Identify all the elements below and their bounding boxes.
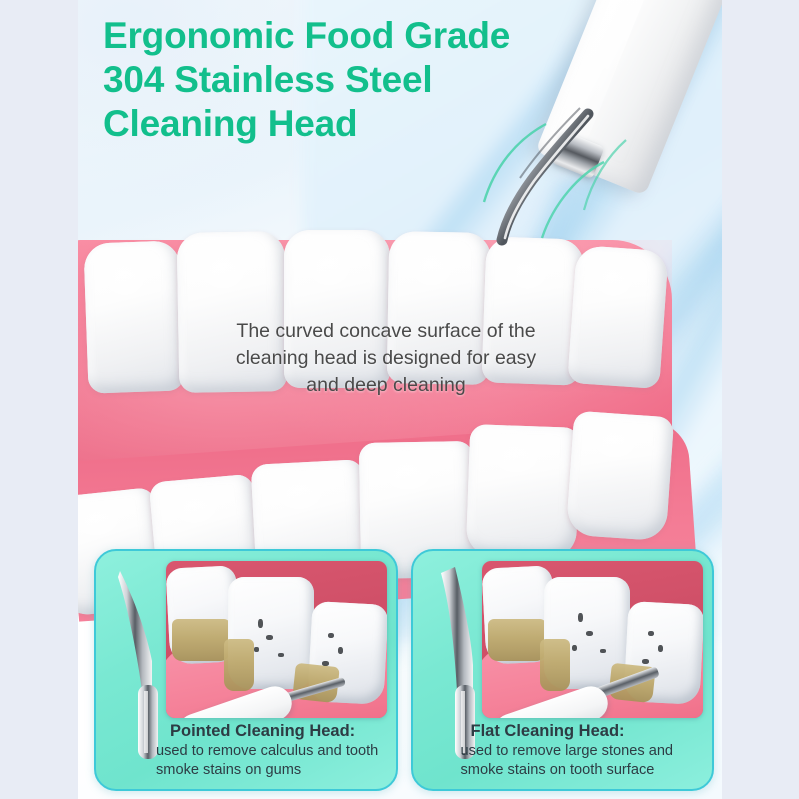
photo-stain-speck bbox=[600, 649, 606, 653]
photo-stain-speck bbox=[648, 631, 654, 636]
pointed-tip-shape bbox=[118, 571, 152, 691]
caption-line-1: The curved concave surface of the bbox=[196, 318, 576, 345]
panel-pointed-cleaning-head[interactable]: Pointed Cleaning Head: used to remove ca… bbox=[94, 549, 398, 791]
vibration-arc bbox=[542, 162, 604, 238]
photo-stain-speck bbox=[322, 661, 329, 666]
photo-stain-speck bbox=[328, 633, 334, 638]
panel-desc-line-2: smoke stains on tooth surface bbox=[461, 761, 715, 780]
photo-stain-speck bbox=[338, 647, 343, 654]
feature-caption: The curved concave surface of the cleani… bbox=[196, 318, 576, 399]
vibration-arc bbox=[584, 140, 626, 210]
page-title: Ergonomic Food Grade 304 Stainless Steel… bbox=[103, 14, 603, 146]
panel-desc-line-1: used to remove calculus and tooth bbox=[156, 742, 398, 761]
photo-stain-speck bbox=[578, 613, 583, 622]
content-stage: Ergonomic Food Grade 304 Stainless Steel… bbox=[78, 0, 722, 799]
headline-line-2: 304 Stainless Steel bbox=[103, 58, 603, 102]
panel-title: Pointed Cleaning Head: bbox=[170, 721, 396, 741]
pointed-head-photo bbox=[166, 561, 387, 718]
lower-tooth bbox=[566, 411, 674, 542]
lower-tooth bbox=[466, 424, 581, 560]
photo-tartar bbox=[224, 639, 254, 691]
photo-stain-speck bbox=[266, 635, 273, 640]
photo-stain-speck bbox=[254, 647, 259, 652]
headline-line-3: Cleaning Head bbox=[103, 102, 603, 146]
right-margin-band bbox=[722, 0, 799, 799]
upper-tooth bbox=[567, 245, 668, 389]
photo-stain-speck bbox=[586, 631, 593, 636]
photo-tartar bbox=[488, 619, 546, 661]
flat-tip-shape bbox=[441, 567, 473, 691]
panel-desc-line-1: used to remove large stones and bbox=[461, 742, 715, 761]
photo-stain-speck bbox=[258, 619, 263, 628]
photo-stain-speck bbox=[658, 645, 663, 652]
panel-title: Flat Cleaning Head: bbox=[471, 721, 697, 741]
caption-line-3: and deep cleaning bbox=[196, 372, 576, 399]
panel-desc-line-2: smoke stains on gums bbox=[156, 761, 398, 780]
panel-flat-cleaning-head[interactable]: Flat Cleaning Head: used to remove large… bbox=[411, 549, 715, 791]
panel-description: used to remove large stones and smoke st… bbox=[461, 742, 715, 780]
caption-line-2: cleaning head is designed for easy bbox=[196, 345, 576, 372]
photo-stain-speck bbox=[278, 653, 284, 657]
left-margin-band bbox=[0, 0, 78, 799]
cleaning-head-comparison: Pointed Cleaning Head: used to remove ca… bbox=[94, 549, 714, 787]
product-infographic: Ergonomic Food Grade 304 Stainless Steel… bbox=[0, 0, 799, 799]
upper-tooth bbox=[83, 240, 184, 393]
photo-stain-speck bbox=[642, 659, 649, 664]
photo-tartar bbox=[172, 619, 230, 661]
shank-highlight bbox=[144, 691, 148, 753]
flat-head-photo bbox=[482, 561, 703, 718]
photo-tartar bbox=[540, 639, 570, 691]
photo-stain-speck bbox=[572, 645, 577, 651]
panel-description: used to remove calculus and tooth smoke … bbox=[156, 742, 398, 780]
headline-line-1: Ergonomic Food Grade bbox=[103, 14, 603, 58]
